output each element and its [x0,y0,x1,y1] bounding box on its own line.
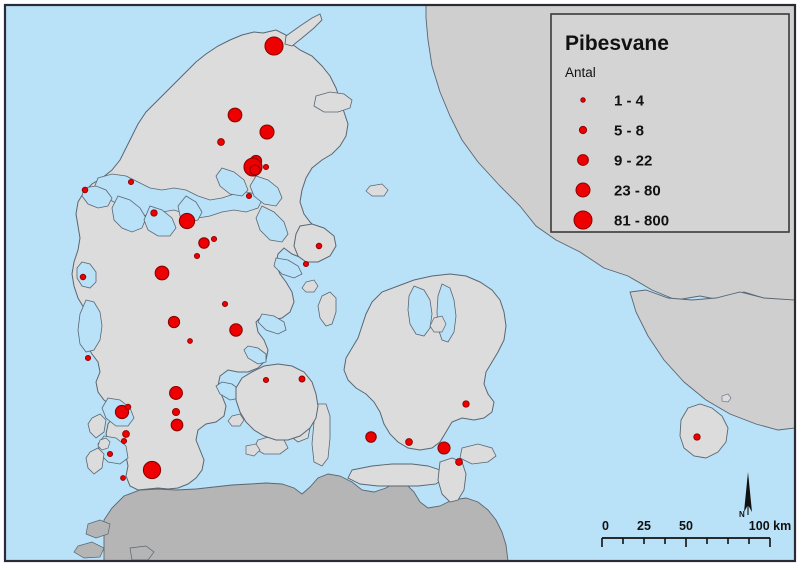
map-legend: Pibesvane Antal 1 - 45 - 89 - 2223 - 808… [551,14,789,232]
occurrence-marker [406,439,413,446]
occurrence-marker [125,404,131,410]
occurrence-marker [168,316,179,327]
scale-label: 0 [602,519,609,533]
legend-symbol [576,183,590,197]
occurrence-marker [85,355,90,360]
occurrence-marker [228,108,242,122]
occurrence-marker [172,408,179,415]
occurrence-marker [694,434,700,440]
legend-symbol [579,126,586,133]
occurrence-marker [366,432,376,442]
occurrence-marker [463,401,469,407]
occurrence-marker [230,324,242,336]
legend-title: Pibesvane [565,32,669,55]
occurrence-marker [151,210,157,216]
map-canvas: Pibesvane Antal 1 - 45 - 89 - 2223 - 808… [0,0,800,566]
occurrence-marker [303,261,308,266]
scale-label: 100 km [749,519,791,533]
legend-class-label: 5 - 8 [614,123,644,140]
occurrence-marker [80,274,86,280]
occurrence-marker [456,459,463,466]
occurrence-marker [179,213,194,228]
occurrence-marker [263,377,268,382]
legend-class-label: 23 - 80 [614,183,661,200]
north-arrow-label: N [739,510,745,519]
occurrence-marker [121,476,126,481]
occurrence-marker [222,301,227,306]
occurrence-marker [218,139,225,146]
occurrence-marker [211,236,216,241]
scale-label: 50 [679,519,693,533]
occurrence-marker [107,451,112,456]
map-container: Pibesvane Antal 1 - 45 - 89 - 2223 - 808… [0,0,800,566]
legend-symbol [581,98,585,102]
occurrence-marker [155,266,169,280]
occurrence-marker [170,387,183,400]
occurrence-marker [265,37,283,55]
occurrence-marker [123,431,130,438]
legend-class-label: 9 - 22 [614,153,652,170]
occurrence-marker [199,238,209,248]
occurrence-marker [316,243,322,249]
legend-class-label: 81 - 800 [614,213,669,230]
occurrence-marker [143,461,160,478]
occurrence-marker [438,442,450,454]
occurrence-marker [260,125,274,139]
scale-label: 25 [637,519,651,533]
occurrence-marker [171,419,183,431]
legend-subtitle: Antal [565,65,596,80]
occurrence-marker [121,438,126,443]
occurrence-marker [250,165,260,175]
occurrence-marker [128,179,133,184]
occurrence-marker [246,193,251,198]
legend-class-label: 1 - 4 [614,93,645,110]
legend-symbol [574,211,592,229]
occurrence-marker [263,164,268,169]
legend-symbol [578,155,589,166]
occurrence-marker [188,339,193,344]
mandoe-island [98,438,110,450]
occurrence-marker [194,253,199,258]
occurrence-marker [82,187,88,193]
occurrence-marker [299,376,305,382]
